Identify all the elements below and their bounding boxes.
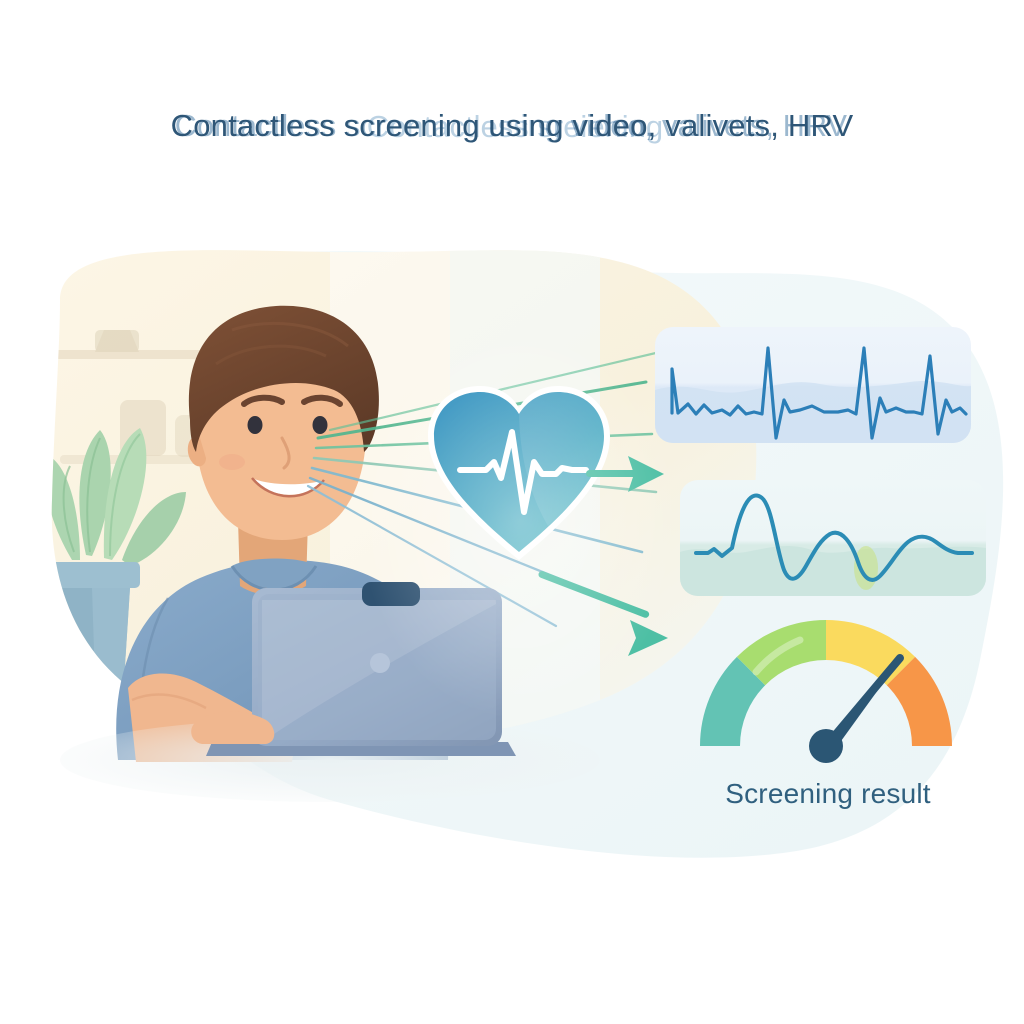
hrv-waveform-panel: [680, 480, 986, 596]
plant-pot-rim: [48, 562, 140, 588]
eye-right: [313, 416, 328, 434]
laptop-logo: [370, 653, 390, 673]
center-glow: [360, 320, 680, 720]
illustration-artwork: [0, 0, 1024, 1024]
eye-left: [248, 416, 263, 434]
ecg-waveform-panel: [655, 327, 971, 443]
illustration-canvas: Contactless sreiening Contactless screen…: [0, 0, 1024, 1024]
screening-result-label: Screening result: [658, 778, 998, 810]
gauge-needle-pivot: [809, 729, 843, 763]
